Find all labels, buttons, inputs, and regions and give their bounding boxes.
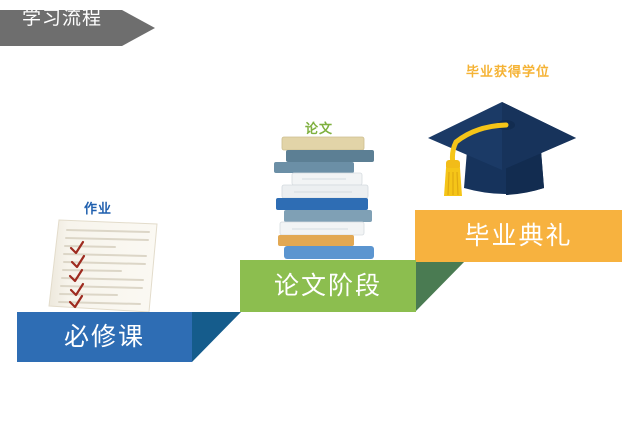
step-label-thesis-stage: 论文阶段 xyxy=(240,260,416,312)
caption-degree: 毕业获得学位 xyxy=(466,61,550,80)
homework-sheet-icon xyxy=(45,218,165,314)
step-label-graduation-ceremony: 毕业典礼 xyxy=(415,210,622,262)
step-riser-thesis-stage xyxy=(415,260,466,312)
graduation-cap-icon xyxy=(422,96,582,201)
caption-homework: 作业 xyxy=(84,198,112,217)
page-title: 学习流程 xyxy=(22,0,102,36)
step-riser-required-courses xyxy=(192,312,241,362)
step-label-required-courses: 必修课 xyxy=(17,312,192,362)
learning-flow-diagram: 学习流程 xyxy=(0,0,640,426)
book-stack-icon xyxy=(272,135,377,260)
caption-thesis: 论文 xyxy=(305,118,333,137)
